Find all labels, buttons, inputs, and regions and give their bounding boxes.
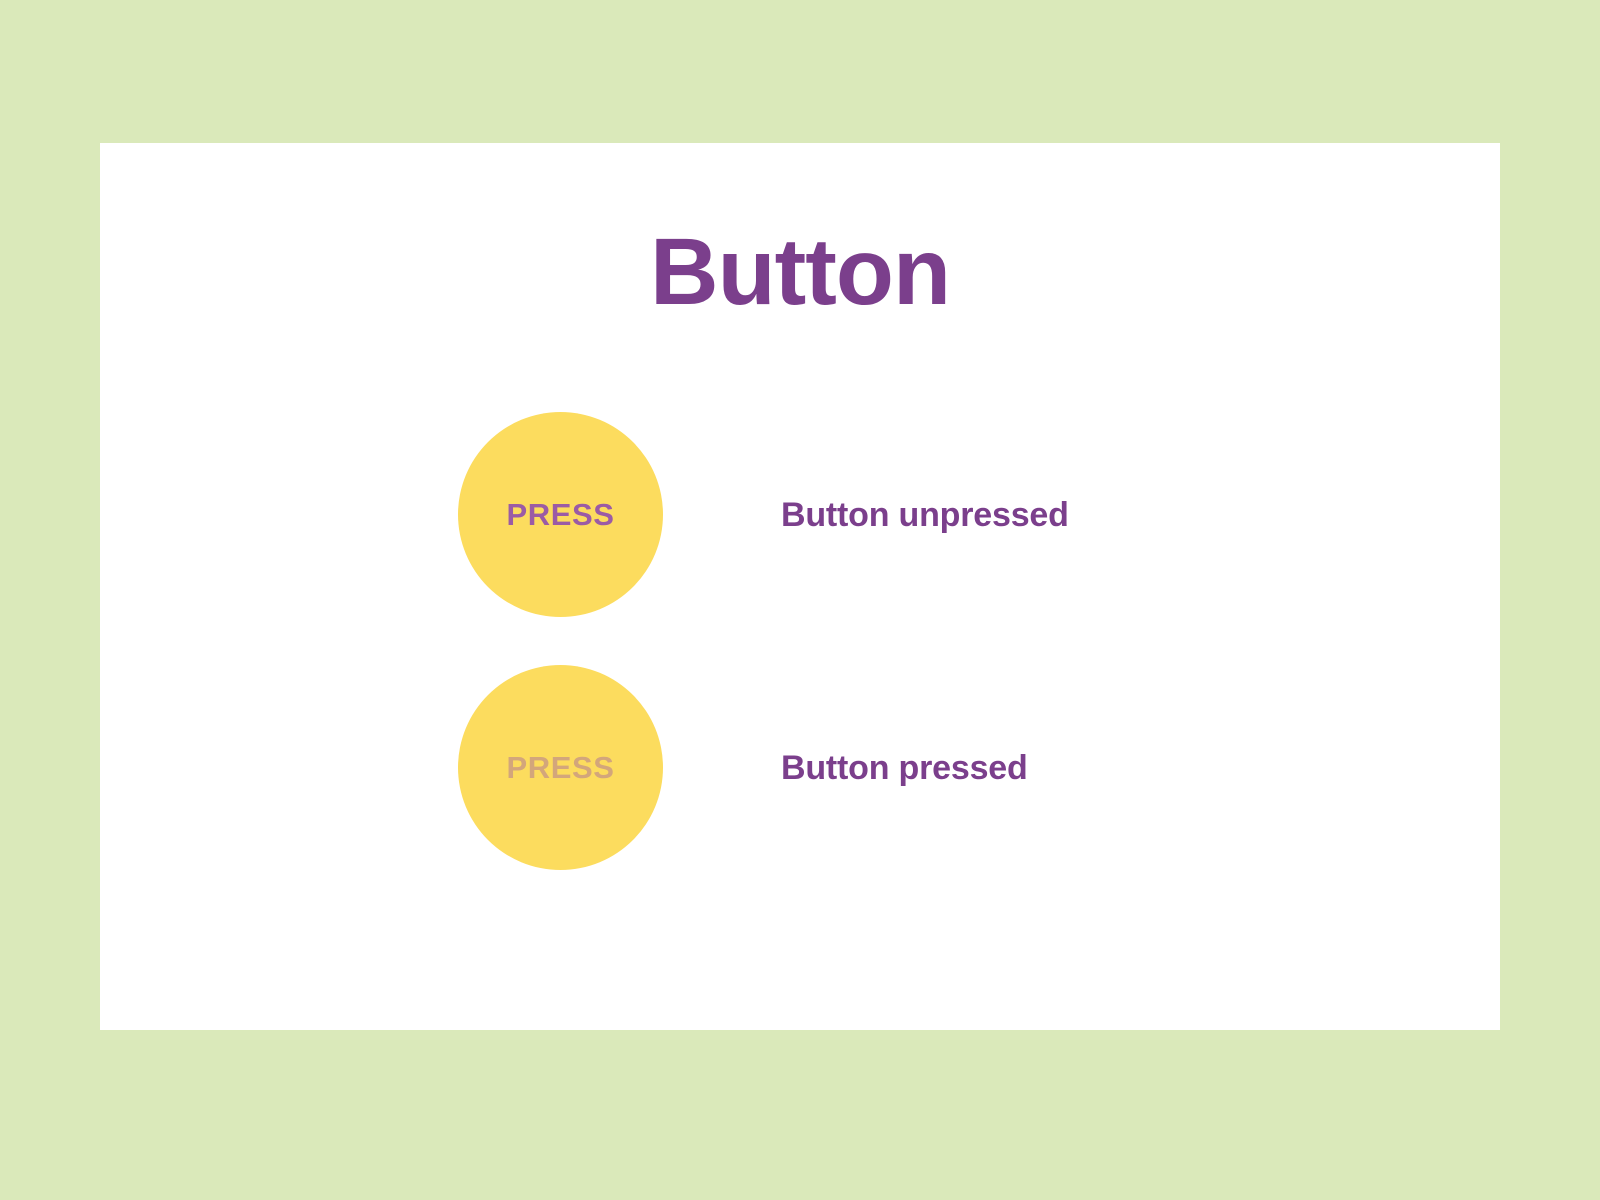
button-demo-list: PRESS Button unpressed PRESS Button pres… [458, 412, 1458, 870]
press-button-label: PRESS [506, 752, 614, 783]
button-demo-row-unpressed: PRESS Button unpressed [458, 412, 1458, 617]
state-label-unpressed: Button unpressed [781, 498, 1069, 532]
press-button-label: PRESS [506, 499, 614, 530]
page-title: Button [100, 225, 1500, 320]
state-label-pressed: Button pressed [781, 751, 1028, 785]
content-card: Button PRESS Button unpressed PRESS Butt… [100, 143, 1500, 1030]
press-button-unpressed[interactable]: PRESS [458, 412, 663, 617]
press-button-pressed[interactable]: PRESS [458, 665, 663, 870]
button-demo-row-pressed: PRESS Button pressed [458, 665, 1458, 870]
